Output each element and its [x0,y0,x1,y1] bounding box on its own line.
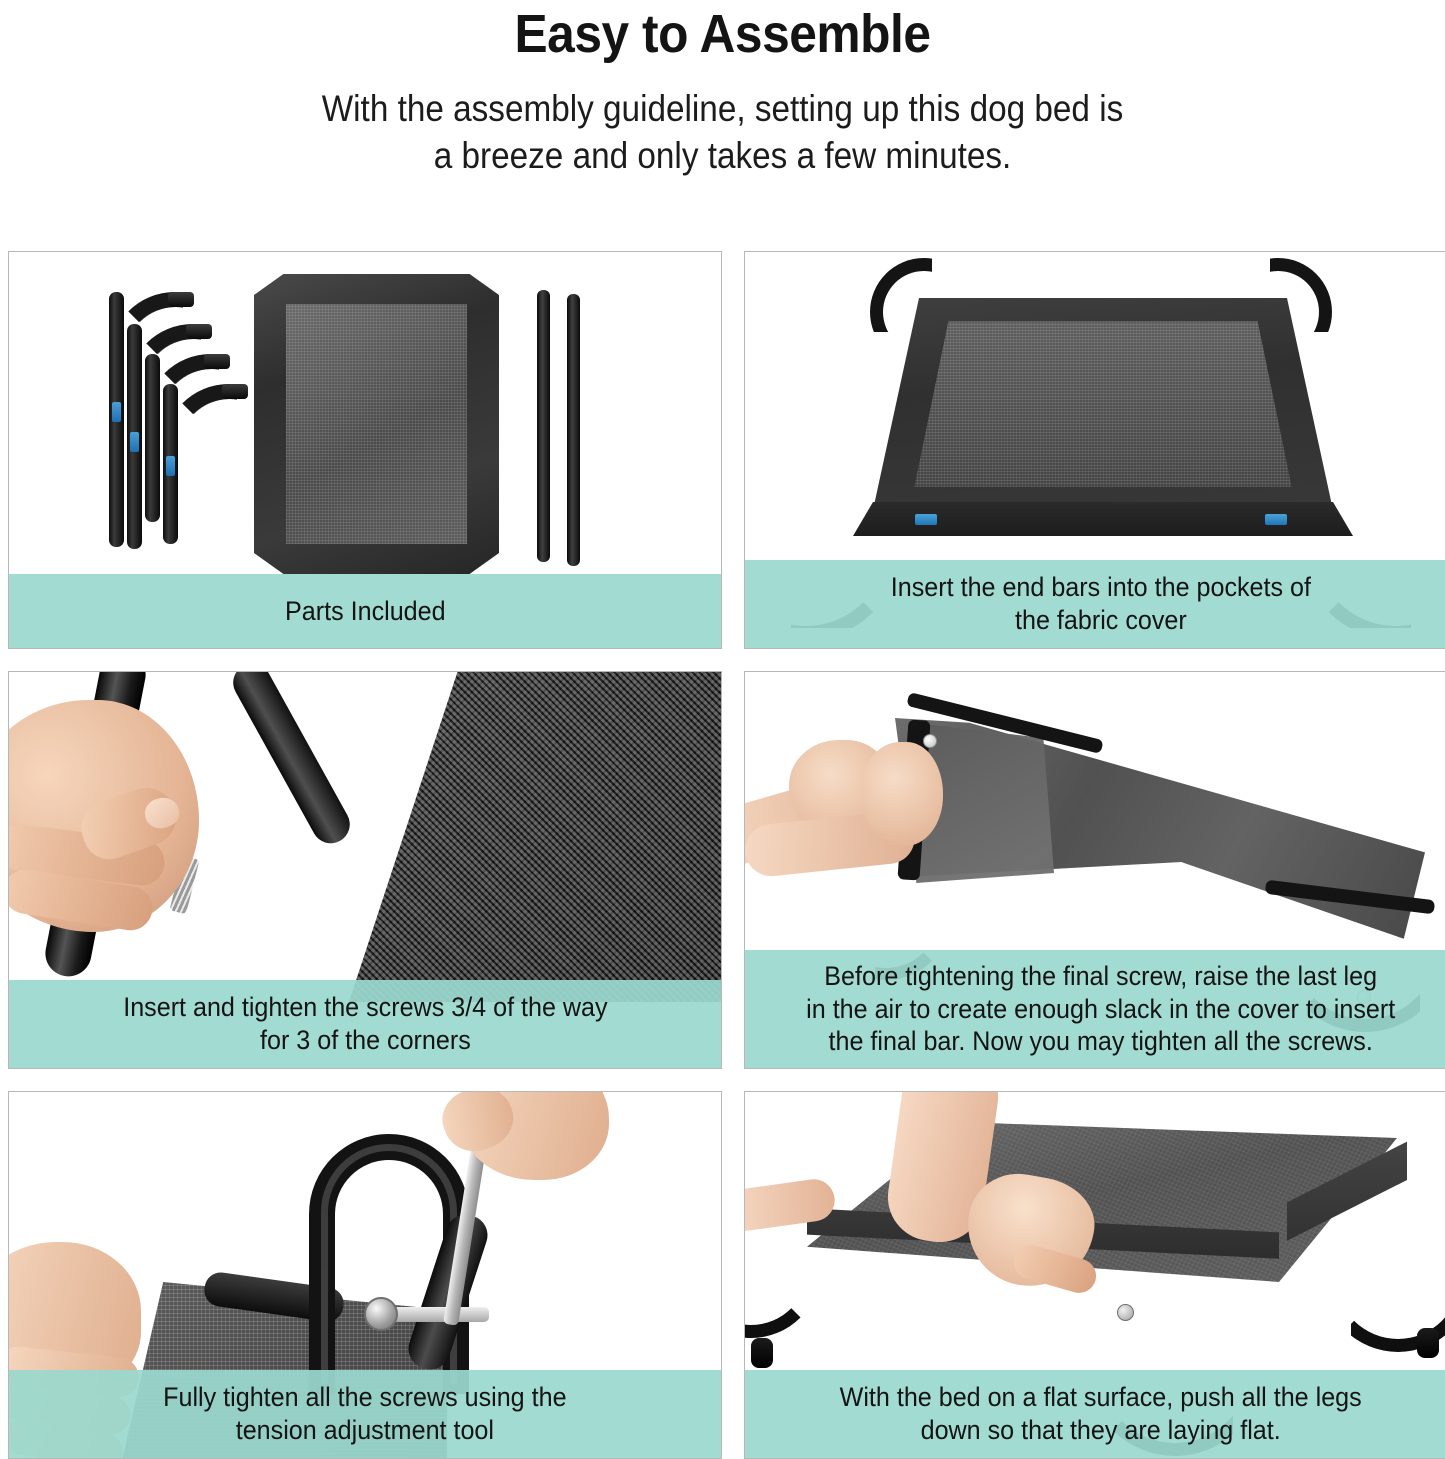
leg-foot [1417,1328,1439,1358]
step-caption-5: Fully tighten all the screws using the t… [9,1370,721,1458]
caption-line: Before tightening the final screw, raise… [806,960,1395,993]
page-title: Easy to Assemble [58,6,1387,63]
caption-line: the fabric cover [891,604,1311,637]
caption-line: tension adjustment tool [163,1414,566,1447]
end-bar-part [537,290,550,562]
hands [745,694,985,884]
caption-line: the final bar. Now you may tighten all t… [806,1025,1395,1058]
caption-line: With the bed on a flat surface, push all… [840,1381,1362,1414]
fabric-cover-part [254,274,499,574]
leg-part [163,384,237,544]
sticker-tab [915,514,937,525]
caption-line: Fully tighten all the screws using the [163,1381,566,1414]
caption-line: Parts Included [285,595,446,628]
screw-knob [923,734,937,748]
caption-line: for 3 of the corners [123,1024,607,1057]
bolt [364,1297,398,1331]
step-panel-6: With the bed on a flat surface, push all… [744,1091,1445,1459]
assembly-instruction-page: Easy to Assemble With the assembly guide… [0,0,1445,1433]
step-panel-3: Insert and tighten the screws 3/4 of the… [8,671,722,1069]
caption-line: Insert and tighten the screws 3/4 of the… [123,991,607,1024]
step-panel-2: Insert the end bars into the pockets of … [744,251,1445,649]
caption-line: Insert the end bars into the pockets of [891,571,1311,604]
step-caption-6: With the bed on a flat surface, push all… [745,1370,1445,1458]
right-hand [429,1092,629,1222]
corner-screw [1117,1304,1134,1321]
step-panel-4: Before tightening the final screw, raise… [744,671,1445,1069]
subtitle-line-2: a breeze and only takes a few minutes. [72,132,1373,179]
sticker-tab [1265,514,1287,525]
step-caption-3: Insert and tighten the screws 3/4 of the… [9,980,721,1068]
step-caption-4: Before tightening the final screw, raise… [745,950,1445,1068]
caption-line: in the air to create enough slack in the… [806,993,1395,1026]
subtitle-line-1: With the assembly guideline, setting up … [72,85,1373,132]
header: Easy to Assemble With the assembly guide… [0,0,1445,179]
caption-line: down so that they are laying flat. [840,1414,1362,1447]
end-bar-part [567,294,580,566]
leg-foot [751,1338,773,1368]
steps-grid: Parts Included [8,251,1437,1429]
page-subtitle: With the assembly guideline, setting up … [72,85,1373,180]
mesh-fabric [349,672,721,1002]
hand [9,682,269,972]
right-hand-grip [861,742,943,846]
step-panel-1: Parts Included [8,251,722,649]
step-panel-5: Fully tighten all the screws using the t… [8,1091,722,1459]
step-caption-1: Parts Included [9,574,721,648]
step-caption-2: Insert the end bars into the pockets of … [745,560,1445,648]
mesh-deck [873,298,1333,510]
